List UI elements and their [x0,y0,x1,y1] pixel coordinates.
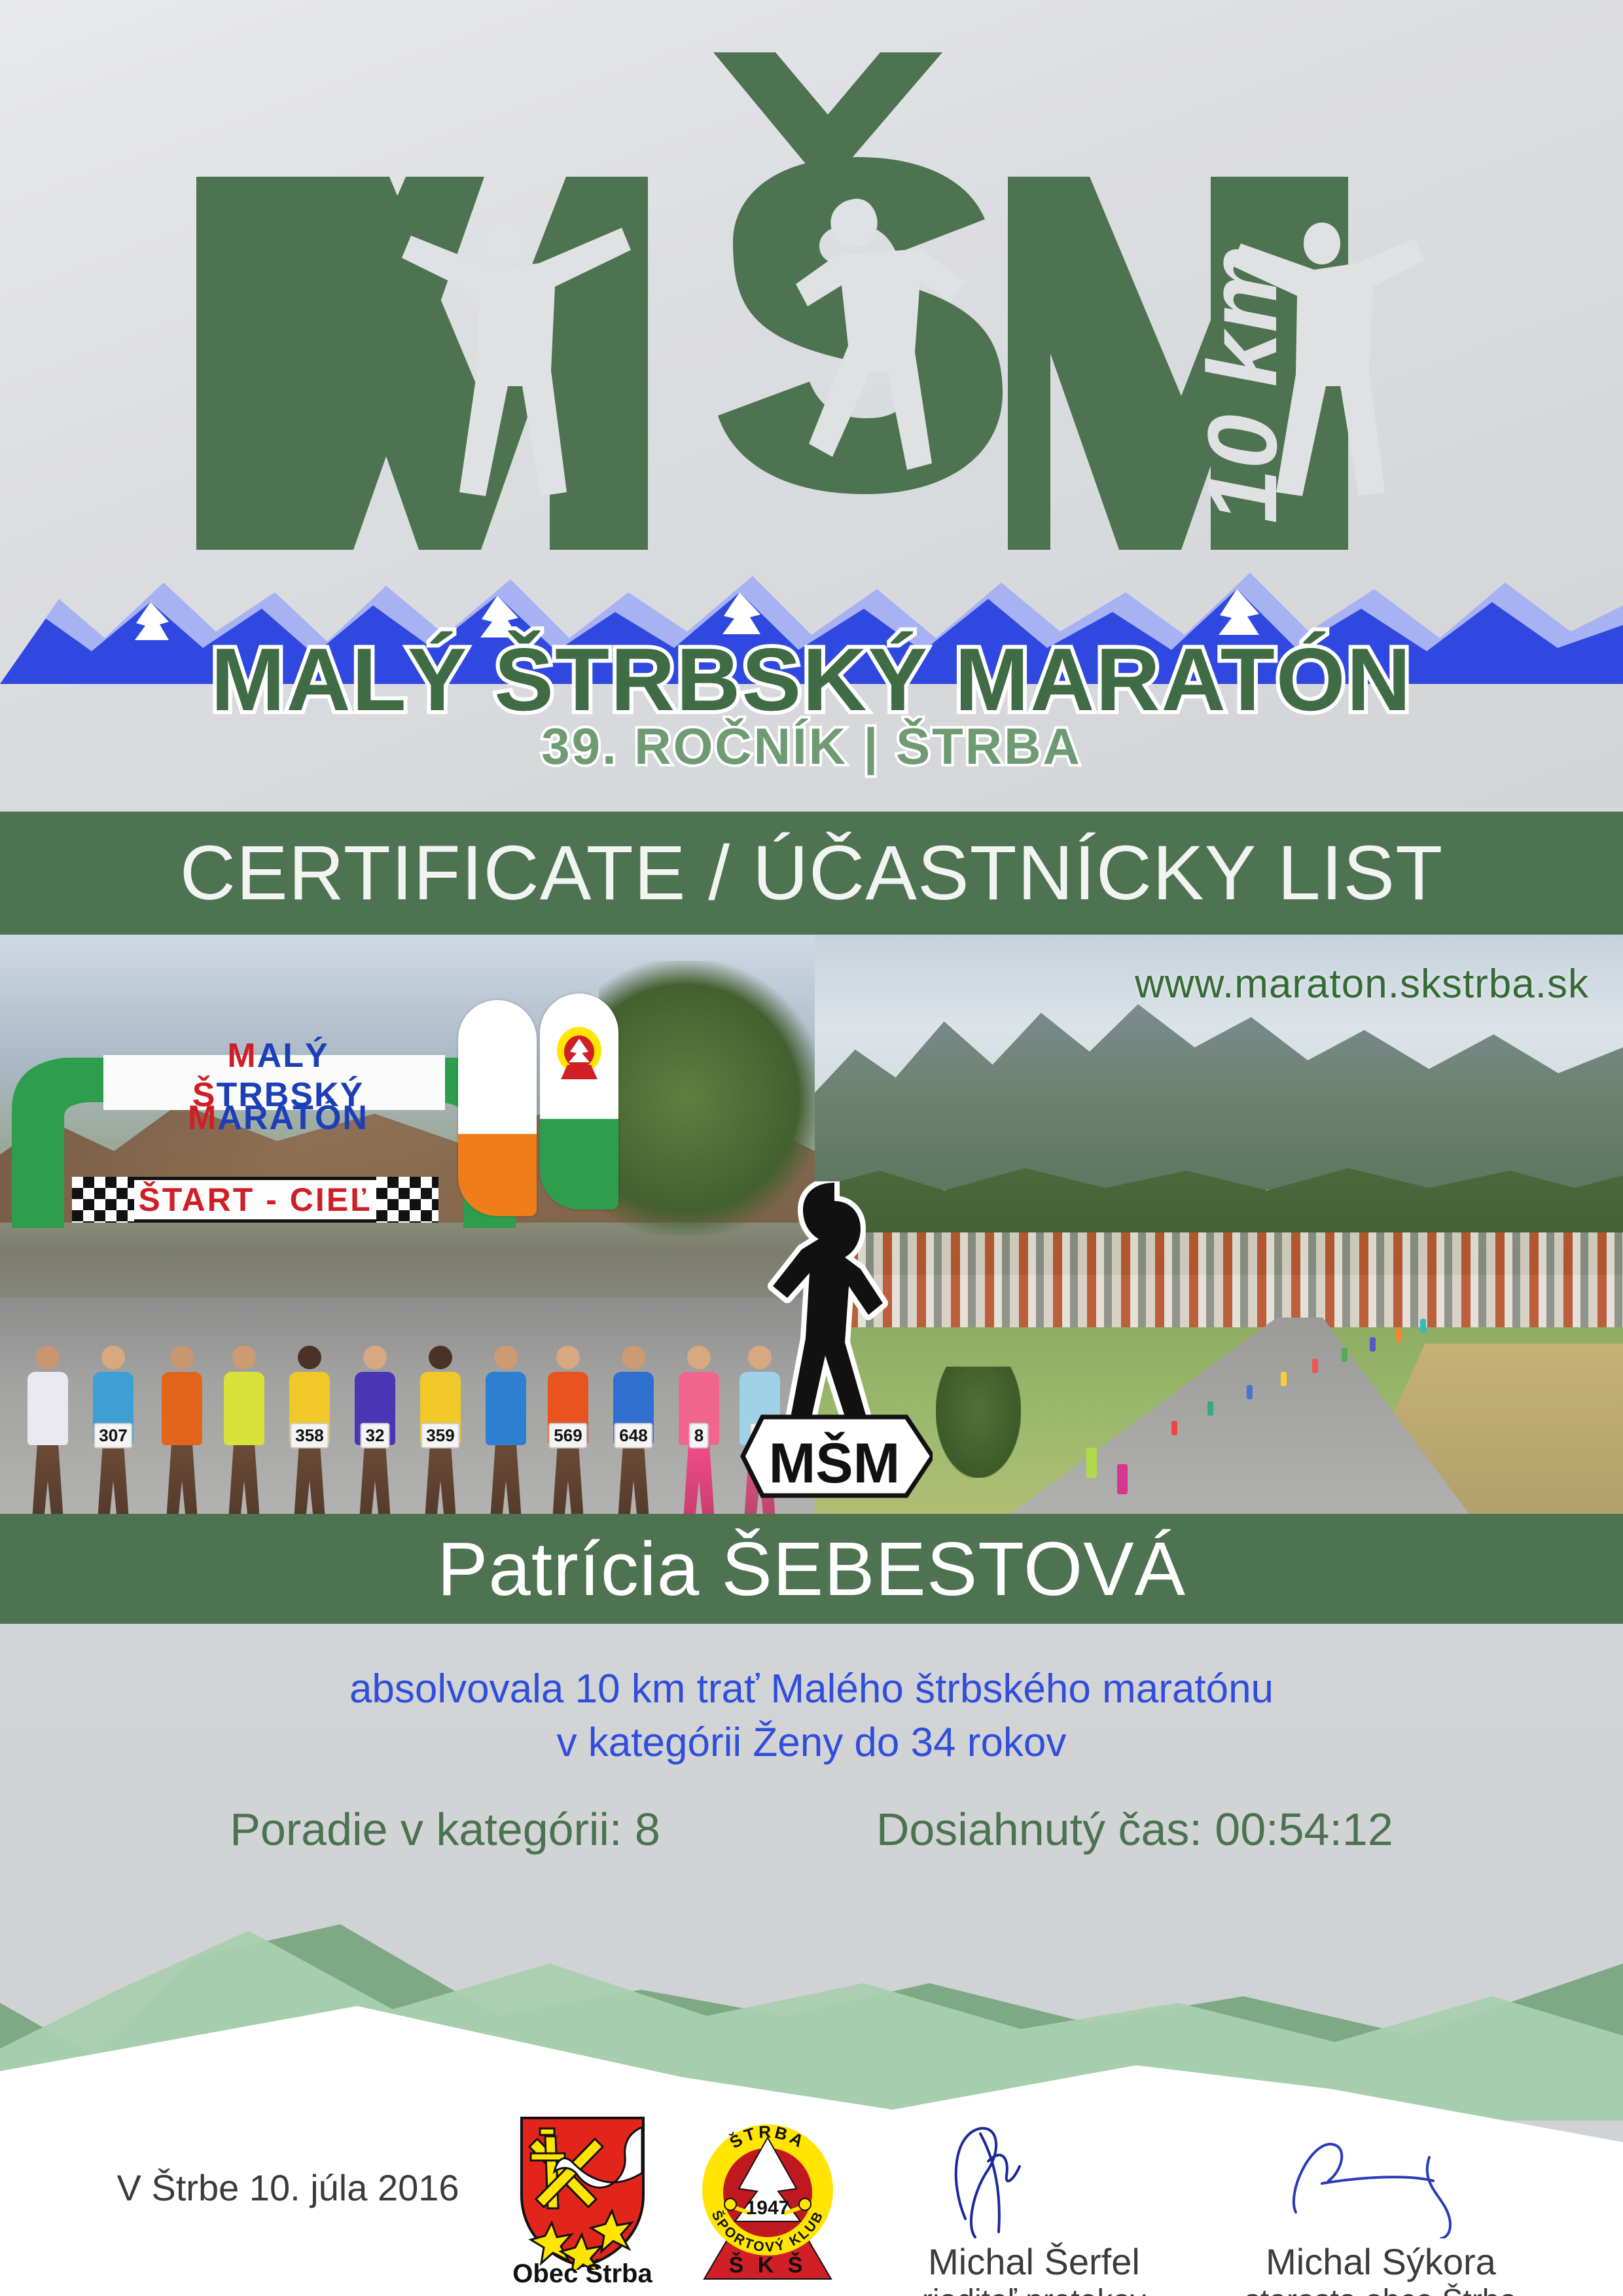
distant-runner [1281,1372,1287,1386]
obec-strba-coat-of-arms-icon [514,2113,651,2270]
distant-runner [1342,1348,1347,1362]
runner-crowd: 307 358 32 359 [0,1242,815,1514]
sponsor-flag-tatry [458,1000,537,1216]
runner-figure: 32 [347,1346,403,1514]
description-line-1: absolvovala 10 km trať Malého štrbského … [0,1662,1623,1716]
distant-runner [1370,1337,1376,1352]
photo-trees [599,961,815,1236]
logo-header: 31 km 10 km MALÝ ŠTRBSKÝ MARATÓN 39. ROČ… [0,0,1623,808]
sks-sport-club-logo-icon: ŠTRBA ŠPORTOVÝ KLUB 1947 Š K Š [695,2113,840,2283]
bib-number: 32 [361,1423,390,1448]
signature-role: starosta obce Štrba [1198,2283,1564,2296]
description-line-2: v kategórii Ženy do 34 rokov [0,1716,1623,1770]
achievement-description: absolvovala 10 km trať Malého štrbského … [0,1662,1623,1770]
runner-figure [20,1346,76,1514]
runner-figure: 648 [605,1346,662,1514]
sks-year: 1947 [746,2197,790,2219]
certificate-banner-text: CERTIFICATE / ÚČASTNÍCKY LIST [180,829,1443,918]
checker-right [376,1177,438,1223]
distant-runner [1117,1464,1128,1494]
runner-figure: 358 [281,1346,338,1514]
runner-figure [154,1346,210,1514]
photo-strip: MALÝ ŠTRBSKÝ MARATÓN ŠTART - CIEĽ [0,935,1623,1514]
sks-base-text: Š K Š [729,2252,807,2278]
issue-date: V Štrbe 10. júla 2016 [79,2166,497,2209]
runner-figure: 6 [732,1346,788,1514]
runner-figure: 307 [85,1346,141,1514]
runner-figure: 569 [540,1346,596,1514]
race-start-photo: MALÝ ŠTRBSKÝ MARATÓN ŠTART - CIEĽ [0,935,815,1514]
signature-block-mayor: Michal Sýkora starosta obce Štrba [1198,2121,1564,2296]
signature-block-director: Michal Šerfel riaditeľ pretekov [851,2121,1217,2296]
results-row: Poradie v kategórii: 8 Dosiahnutý čas: 0… [0,1803,1623,1856]
signature-scribble-sykora [1250,2121,1512,2238]
distant-runner [1420,1319,1426,1333]
runner-figure: 8 [671,1346,727,1514]
signature-role: riaditeľ pretekov [851,2283,1217,2296]
bib-number: 359 [421,1423,459,1448]
checker-left [72,1177,134,1223]
website-url[interactable]: www.maraton.skstrba.sk [1135,961,1589,1007]
bib-number: 307 [94,1423,132,1448]
runner-figure [478,1346,534,1514]
arch-title-line2: MARATÓN [137,1098,419,1138]
distant-runner [1171,1421,1177,1435]
signature-scribble-serfel [903,2121,1165,2238]
distance-right-label: 10 km [1187,245,1297,524]
event-subtitle: 39. ROČNÍK | ŠTRBA [0,717,1623,776]
runner-figure [216,1346,272,1514]
category-rank: Poradie v kategórii: 8 [230,1803,660,1856]
start-finish-text: ŠTART - CIEĽ [138,1181,372,1219]
distant-runner [1396,1328,1402,1342]
signature-name: Michal Šerfel [851,2242,1217,2283]
bib-number: 6 [750,1423,770,1448]
signature-name: Michal Sýkora [1198,2242,1564,2283]
participant-name: Patrícia ŠEBESTOVÁ [437,1525,1186,1613]
race-landscape-photo: www.maraton.skstrba.sk [815,935,1623,1514]
msm-wordmark-logo: 31 km 10 km [0,26,1623,550]
participant-name-banner: Patrícia ŠEBESTOVÁ [0,1514,1623,1624]
distant-runner [1312,1359,1318,1373]
runner-figure: 359 [412,1346,469,1514]
landscape-tree [936,1367,1021,1478]
sks-flag-logo-icon [553,1023,605,1082]
bib-number: 358 [290,1423,329,1448]
bib-number: 648 [614,1423,652,1448]
event-title: MALÝ ŠTRBSKÝ MARATÓN [0,628,1623,730]
distant-runner [1086,1448,1097,1478]
footer: V Štrbe 10. júla 2016 Obec Štrba [0,2081,1623,2296]
certificate-page: 31 km 10 km MALÝ ŠTRBSKÝ MARATÓN 39. ROČ… [0,0,1623,2296]
bib-number: 8 [689,1423,709,1448]
bib-number: 569 [548,1423,587,1448]
finish-time: Dosiahnutý čas: 00:54:12 [876,1803,1393,1856]
distant-runner [1247,1385,1253,1399]
distant-runner [1207,1401,1213,1416]
certificate-banner: CERTIFICATE / ÚČASTNÍCKY LIST [0,812,1623,935]
obec-strba-label: Obec Štrba [497,2259,668,2289]
landscape-village [815,1232,1623,1331]
